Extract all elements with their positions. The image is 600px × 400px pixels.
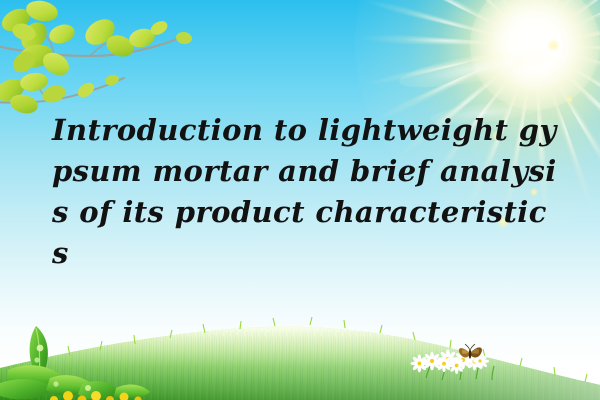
foreground-leaves-icon: [0, 322, 171, 400]
article-title-banner: Introduction to lightweight gypsum morta…: [0, 0, 600, 400]
daisy-cluster-icon: [408, 334, 518, 380]
page-title: Introduction to lightweight gypsum morta…: [52, 110, 562, 274]
sparkle-icon: [548, 40, 559, 51]
banner-title-block: Introduction to lightweight gypsum morta…: [52, 110, 562, 274]
sparkle-icon: [566, 96, 573, 103]
leafy-branch-icon: [0, 0, 209, 124]
